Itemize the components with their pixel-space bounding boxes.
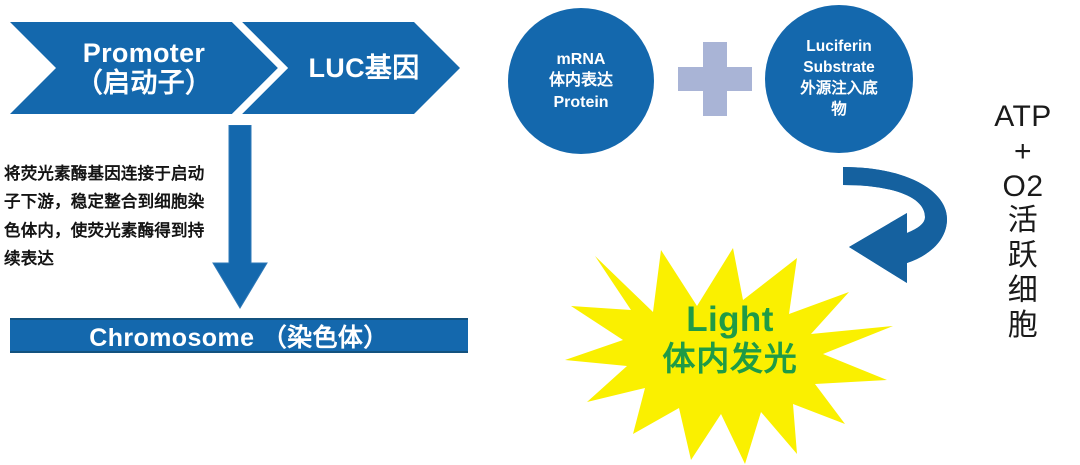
diagram-canvas: Promoter （启动子） LUC基因 将荧光素酶基因连接于启动子下游，稳定整…: [0, 0, 1080, 465]
integration-description-text: 将荧光素酶基因连接于启动子下游，稳定整合到细胞染色体内，使荧光素酶得到持续表达: [4, 160, 209, 274]
cofactor-zh-4: 胞: [980, 309, 1066, 344]
promoter-label-zh: （启动子）: [76, 68, 213, 98]
circle-luciferin-line-4: 物: [831, 100, 847, 121]
promoter-label-en: Promoter: [83, 38, 205, 68]
circle-luciferin-substrate: Luciferin Substrate 外源注入底 物: [765, 5, 913, 153]
circle-mrna-protein: mRNA 体内表达 Protein: [508, 8, 654, 154]
cofactor-plus: +: [980, 135, 1066, 170]
promoter-chevron: Promoter （启动子）: [10, 22, 278, 114]
cofactor-atp: ATP: [980, 100, 1066, 135]
circle-mrna-line-2: 体内表达: [549, 70, 613, 91]
circle-luciferin-line-1: Luciferin: [806, 37, 871, 58]
luc-gene-label: LUC基因: [309, 53, 420, 83]
circle-luciferin-line-2: Substrate: [803, 58, 875, 79]
circle-mrna-line-3: Protein: [553, 92, 608, 113]
cofactor-zh-1: 活: [980, 204, 1066, 239]
chromosome-bar: Chromosome （染色体）: [10, 318, 468, 353]
gene-construct-group: Promoter （启动子） LUC基因: [10, 22, 460, 114]
plus-icon: [678, 42, 752, 116]
plus-vertical-bar: [703, 42, 727, 116]
cofactor-zh-2: 跃: [980, 239, 1066, 274]
circle-mrna-line-1: mRNA: [557, 49, 606, 70]
cofactor-label: ATP + O2 活 跃 细 胞: [980, 100, 1066, 344]
down-arrow-icon: [205, 125, 275, 310]
circle-luciferin-line-3: 外源注入底: [800, 79, 878, 100]
cofactor-o2: O2: [980, 170, 1066, 205]
light-starburst-shape: [565, 248, 895, 465]
cofactor-zh-3: 细: [980, 274, 1066, 309]
